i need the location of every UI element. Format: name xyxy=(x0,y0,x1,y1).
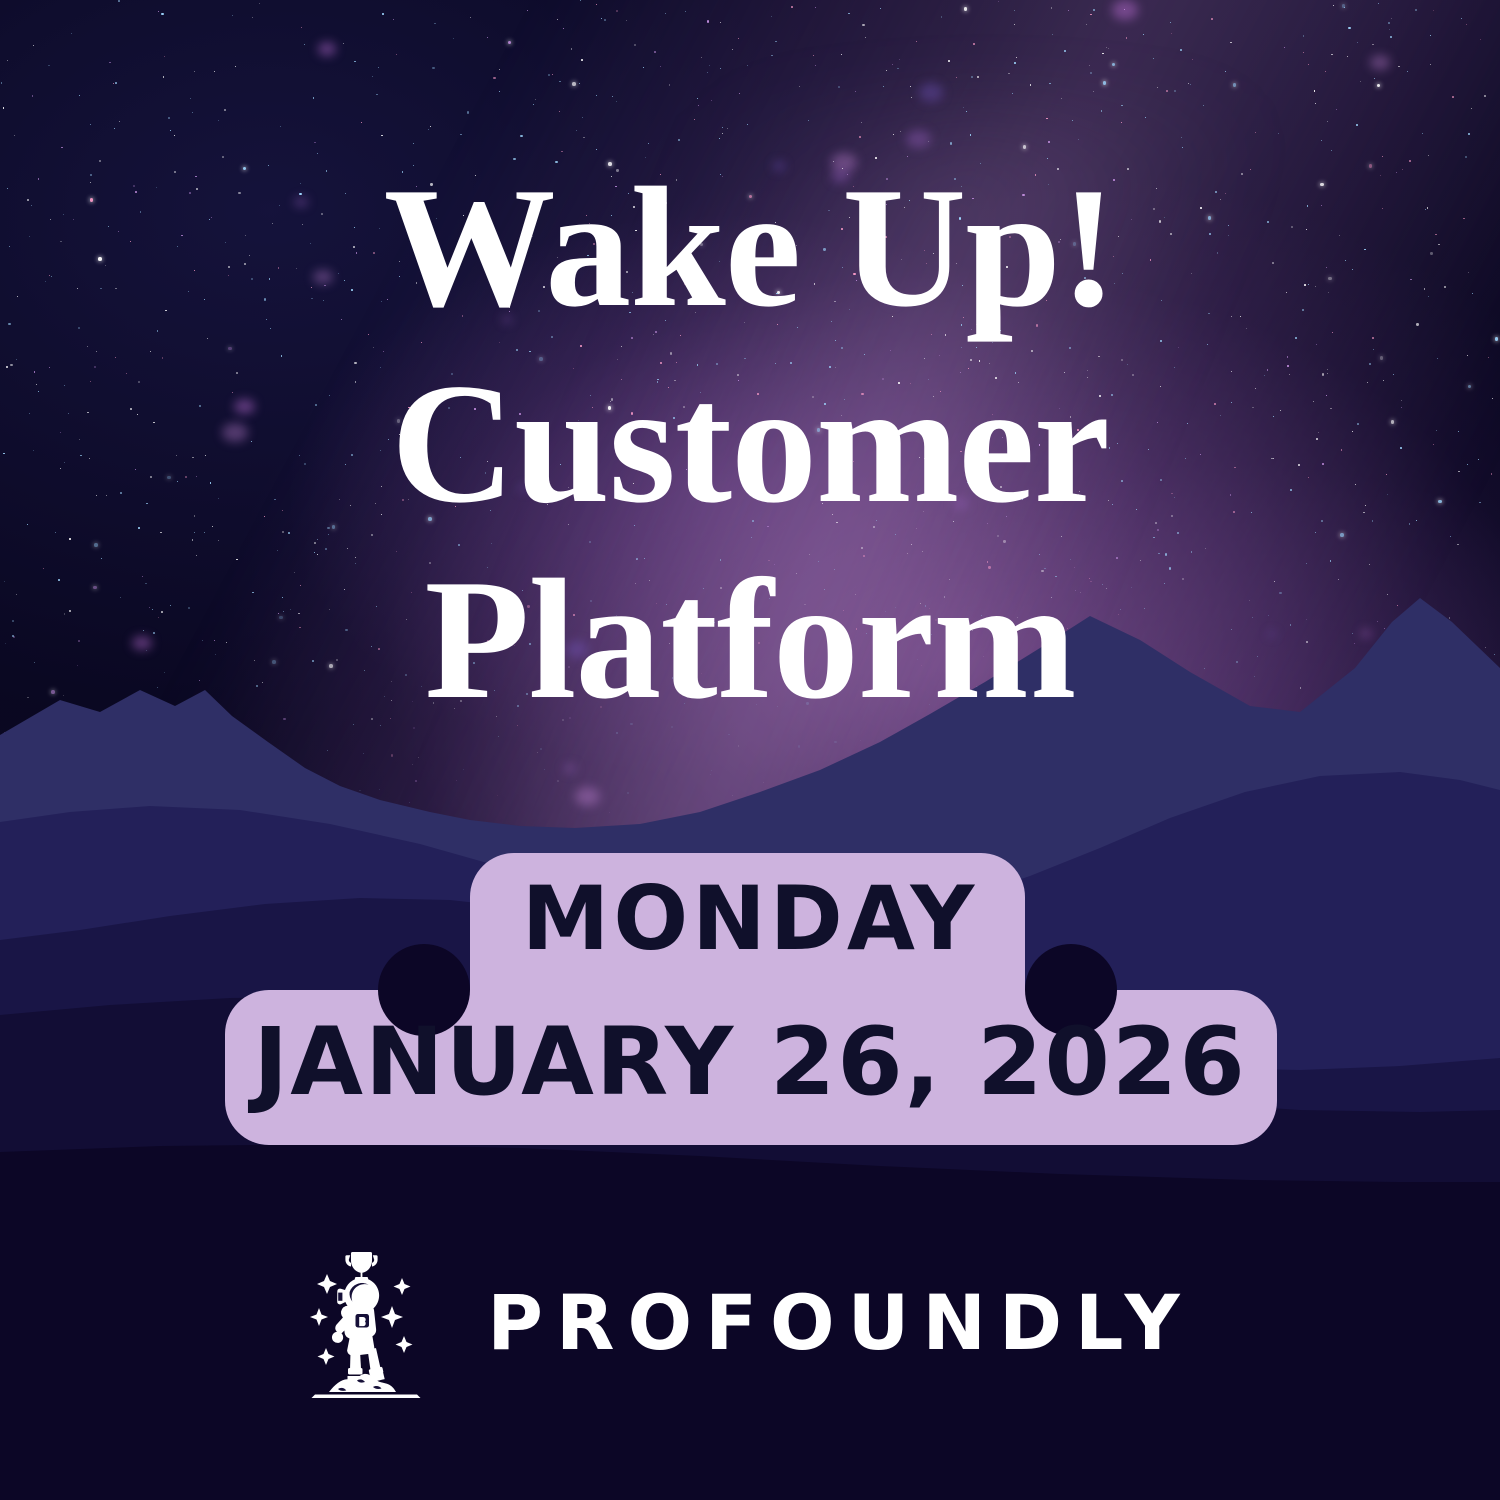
page-title: Wake Up! Customer Platform xyxy=(0,150,1500,738)
brand-name: PROFOUNDLY xyxy=(487,1285,1192,1361)
brand-logo: PROFOUNDLY xyxy=(0,1248,1500,1398)
astronaut-with-trophy-icon xyxy=(307,1248,425,1398)
date-badge-weekday: MONDAY xyxy=(0,875,1500,963)
headline-line-1: Wake Up! xyxy=(60,150,1440,346)
date-badge-date: JANUARY 26, 2026 xyxy=(0,1016,1500,1110)
date-badge: MONDAY JANUARY 26, 2026 xyxy=(0,853,1500,1153)
headline-line-3: Platform xyxy=(60,542,1440,738)
poster-canvas: Wake Up! Customer Platform MONDAY JANUAR… xyxy=(0,0,1500,1500)
headline-line-2: Customer xyxy=(60,346,1440,542)
